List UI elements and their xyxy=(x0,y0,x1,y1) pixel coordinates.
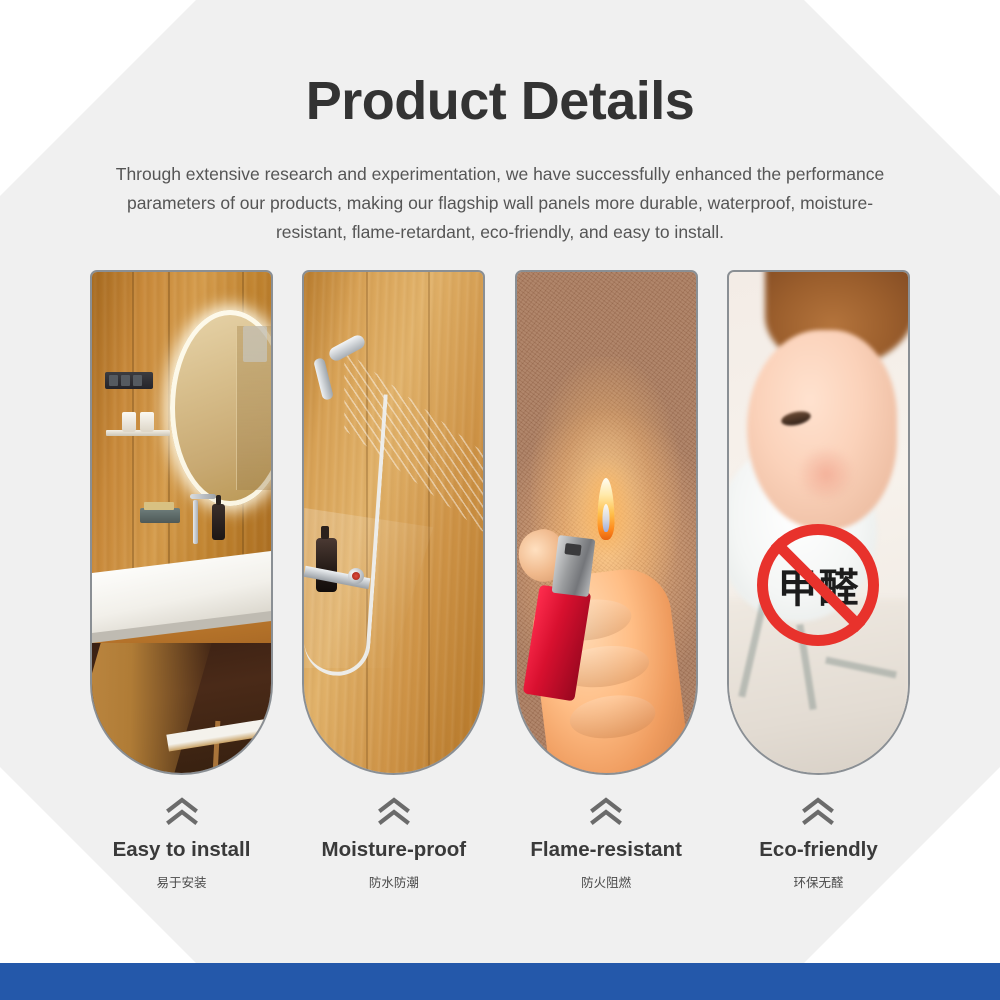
feature-image-flame-resistant xyxy=(515,270,698,775)
baby-face xyxy=(747,330,897,530)
double-chevron-up-icon xyxy=(377,797,411,825)
feature-row: Easy to install 易于安装 xyxy=(90,270,910,891)
floor xyxy=(92,643,271,773)
feature-image-eco-friendly: 甲醛 xyxy=(727,270,910,775)
soap-dispenser xyxy=(212,504,225,540)
feature-item-eco-friendly[interactable]: 甲醛 Eco-friendly 环保无醛 xyxy=(727,270,910,891)
intro-paragraph: Through extensive research and experimen… xyxy=(115,160,885,247)
feature-item-easy-to-install[interactable]: Easy to install 易于安装 xyxy=(90,270,273,891)
shower-illustration xyxy=(304,272,483,773)
flame-core xyxy=(603,504,610,532)
bathroom-vanity-illustration xyxy=(92,272,271,773)
wall-control-panel xyxy=(243,326,267,362)
baby-no-formaldehyde-illustration: 甲醛 xyxy=(729,272,908,773)
feature-caption-en: Moisture-proof xyxy=(322,838,467,862)
feature-item-moisture-proof[interactable]: Moisture-proof 防水防潮 xyxy=(302,270,485,891)
page-title: Product Details xyxy=(0,70,1000,132)
feature-caption-en: Flame-resistant xyxy=(530,838,682,862)
double-chevron-up-icon xyxy=(589,797,623,825)
wall-shelf xyxy=(106,430,170,436)
shampoo-bottle xyxy=(316,538,337,592)
cup xyxy=(122,412,136,432)
feature-image-easy-to-install xyxy=(90,270,273,775)
feature-item-flame-resistant[interactable]: Flame-resistant 防火阻燃 xyxy=(515,270,698,891)
feature-caption-en: Eco-friendly xyxy=(759,838,877,862)
feature-caption-zh: 易于安装 xyxy=(156,872,206,891)
feature-caption-zh: 防水防潮 xyxy=(369,872,419,891)
double-chevron-up-icon xyxy=(801,797,835,825)
flame-test-illustration xyxy=(517,272,696,773)
feature-image-moisture-proof xyxy=(302,270,485,775)
feature-caption-zh: 环保无醛 xyxy=(793,872,843,891)
bottom-bar xyxy=(0,963,1000,1000)
no-formaldehyde-icon: 甲醛 xyxy=(757,524,879,646)
feature-caption-en: Easy to install xyxy=(113,838,251,862)
double-chevron-up-icon xyxy=(165,797,199,825)
cup xyxy=(140,412,154,432)
faucet xyxy=(193,500,198,544)
feature-caption-zh: 防火阻燃 xyxy=(581,872,631,891)
counter-tray xyxy=(140,508,180,523)
light-switch xyxy=(105,372,153,389)
